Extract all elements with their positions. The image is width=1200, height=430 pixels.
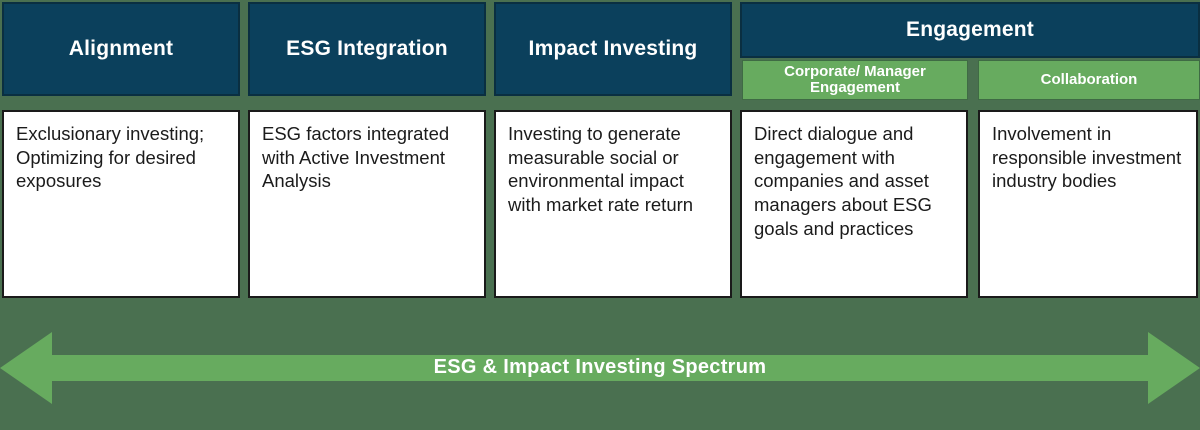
column-header-label: Impact Investing (529, 37, 698, 61)
column-header-impact-investing[interactable]: Impact Investing (494, 2, 732, 96)
subcolumn-header-label: Corporate/ Manager Engagement (747, 64, 963, 96)
subcolumn-header-corporate-manager-engagement[interactable]: Corporate/ Manager Engagement (742, 60, 968, 100)
column-header-label: Engagement (906, 18, 1034, 42)
esg-impact-investing-spectrum-diagram: Alignment ESG Integration Impact Investi… (0, 0, 1200, 430)
double-headed-arrow-icon (0, 305, 1200, 430)
column-body-esg-integration: ESG factors integrated with Active Inves… (248, 110, 486, 298)
column-body-text: Exclusionary investing; Optimizing for d… (16, 123, 204, 191)
column-body-impact-investing: Investing to generate measurable social … (494, 110, 732, 298)
column-body-text: ESG factors integrated with Active Inves… (262, 123, 449, 191)
subcolumn-header-label: Collaboration (1041, 72, 1138, 88)
column-header-esg-integration[interactable]: ESG Integration (248, 2, 486, 96)
column-body-text: Involvement in responsible investment in… (992, 123, 1181, 191)
subcolumn-header-collaboration[interactable]: Collaboration (978, 60, 1200, 100)
column-body-text: Investing to generate measurable social … (508, 123, 693, 215)
column-body-collaboration: Involvement in responsible investment in… (978, 110, 1198, 298)
column-header-label: ESG Integration (286, 37, 448, 61)
column-body-corporate-manager-engagement: Direct dialogue and engagement with comp… (740, 110, 968, 298)
column-body-alignment: Exclusionary investing; Optimizing for d… (2, 110, 240, 298)
column-body-text: Direct dialogue and engagement with comp… (754, 123, 932, 239)
column-header-label: Alignment (69, 37, 173, 61)
column-header-engagement[interactable]: Engagement (740, 2, 1200, 58)
spectrum-arrow-band: ESG & Impact Investing Spectrum (0, 305, 1200, 430)
column-header-alignment[interactable]: Alignment (2, 2, 240, 96)
